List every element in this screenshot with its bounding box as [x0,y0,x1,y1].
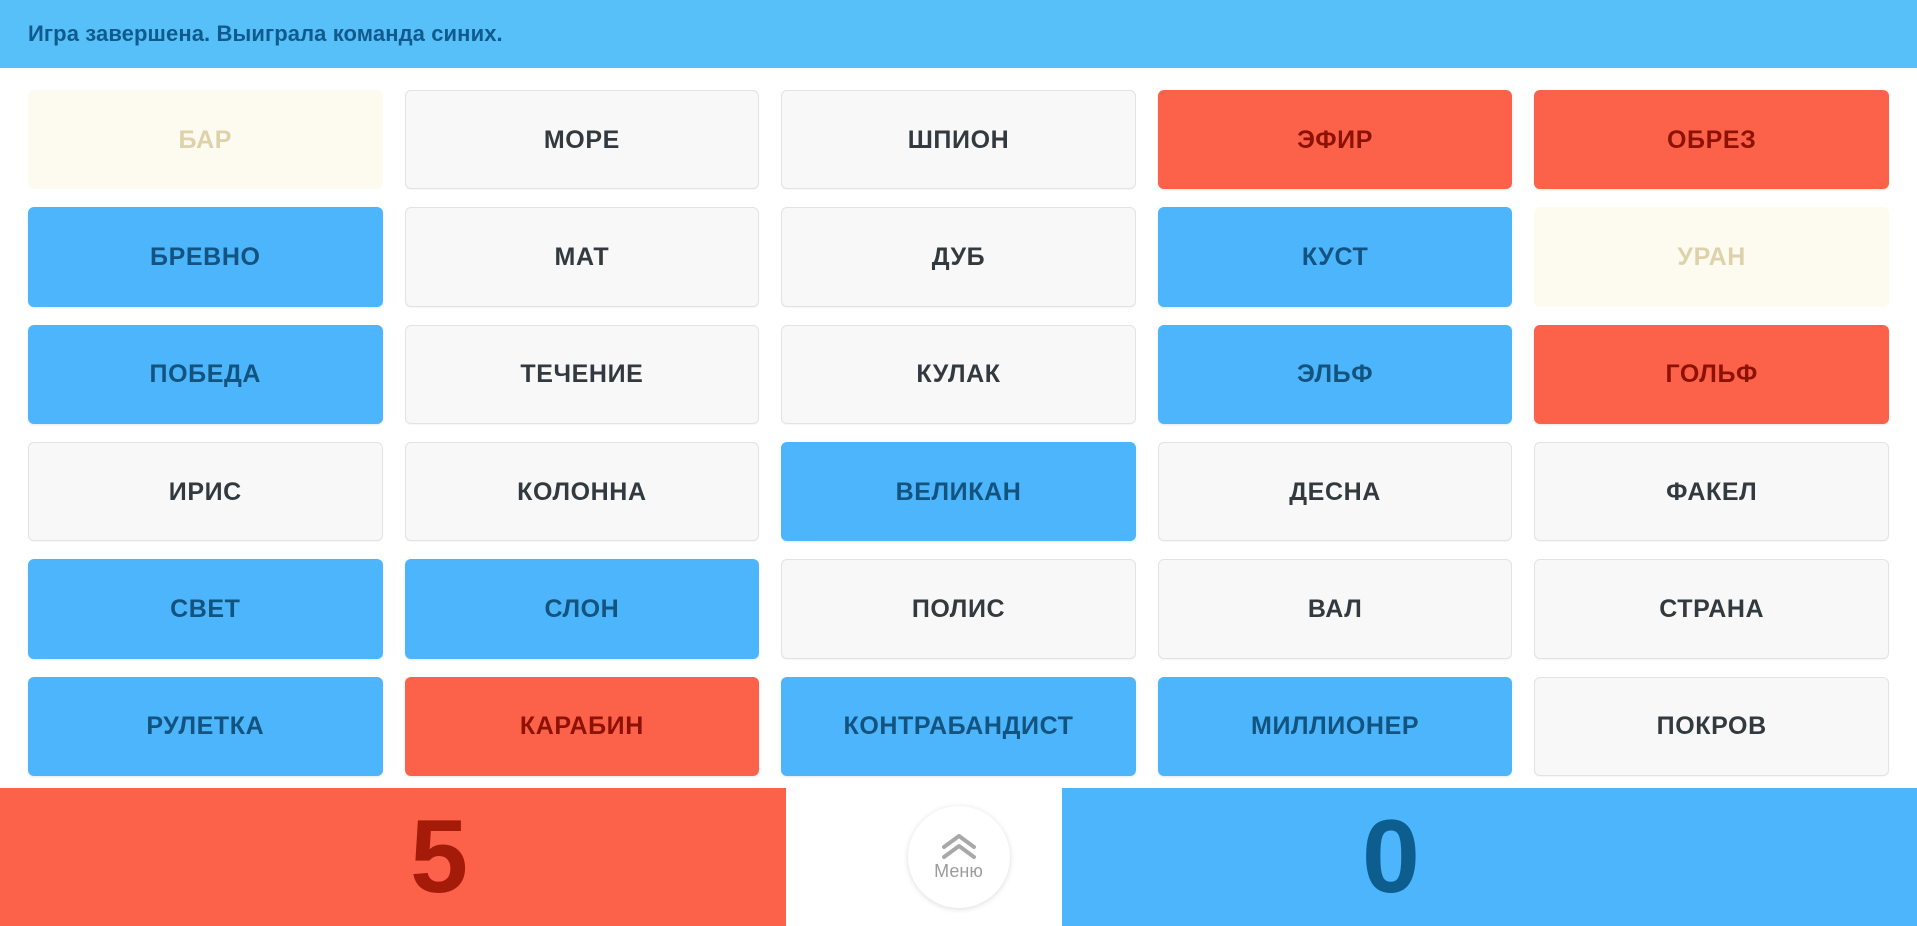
word-card[interactable]: УРАН [1534,207,1889,306]
word-card-label: БАР [179,127,233,153]
word-card-label: ИРИС [169,479,242,505]
blue-team-score-panel: 0 [1062,788,1917,926]
word-card-label: ОБРЕЗ [1667,127,1756,153]
word-card[interactable]: ГОЛЬФ [1534,325,1889,424]
word-card-label: РУЛЕТКА [146,713,264,739]
blue-team-score: 0 [1362,805,1420,909]
word-card[interactable]: МОРЕ [405,90,760,189]
word-card[interactable]: КУЛАК [781,325,1136,424]
word-card[interactable]: ЭФИР [1158,90,1513,189]
word-card-label: КАРАБИН [520,713,644,739]
red-team-score-panel: 5 [0,788,786,926]
word-card[interactable]: БРЕВНО [28,207,383,306]
word-card[interactable]: МИЛЛИОНЕР [1158,677,1513,776]
word-card-label: ВЕЛИКАН [896,479,1022,505]
word-card-label: ТЕЧЕНИЕ [520,361,643,387]
word-card[interactable]: ВЕЛИКАН [781,442,1136,541]
word-card-label: КУСТ [1302,244,1369,270]
word-card-label: МОРЕ [544,127,620,153]
word-card[interactable]: КОНТРАБАНДИСТ [781,677,1136,776]
word-card[interactable]: ТЕЧЕНИЕ [405,325,760,424]
word-card[interactable]: СТРАНА [1534,559,1889,658]
word-card[interactable]: МАТ [405,207,760,306]
codenames-app: Игра завершена. Выиграла команда синих. … [0,0,1917,926]
word-card[interactable]: РУЛЕТКА [28,677,383,776]
word-card-label: ФАКЕЛ [1666,479,1757,505]
word-card[interactable]: ПОЛИС [781,559,1136,658]
word-card-label: ПОБЕДА [150,361,262,387]
word-card-label: ЭЛЬФ [1297,361,1373,387]
word-card[interactable]: ШПИОН [781,90,1136,189]
word-card-label: МИЛЛИОНЕР [1251,713,1419,739]
word-card-grid: БАРМОРЕШПИОНЭФИРОБРЕЗБРЕВНОМАТДУБКУСТУРА… [0,68,1917,788]
word-card[interactable]: КУСТ [1158,207,1513,306]
game-status-message: Игра завершена. Выиграла команда синих. [28,23,503,45]
word-card[interactable]: ОБРЕЗ [1534,90,1889,189]
word-card-label: ВАЛ [1308,596,1363,622]
menu-button[interactable]: Меню [908,806,1010,908]
word-card-label: ПОЛИС [912,596,1005,622]
red-team-score: 5 [410,805,468,909]
word-card-label: ШПИОН [908,127,1010,153]
word-card-label: ДУБ [932,244,985,270]
word-card-label: ЭФИР [1297,127,1373,153]
word-card-label: МАТ [555,244,610,270]
menu-button-label: Меню [934,862,983,880]
word-card-label: ПОКРОВ [1657,713,1767,739]
word-card[interactable]: ДЕСНА [1158,442,1513,541]
word-card-label: ДЕСНА [1289,479,1381,505]
word-card[interactable]: СВЕТ [28,559,383,658]
word-card-label: СТРАНА [1659,596,1764,622]
score-footer: 5 0 Меню [0,788,1917,926]
word-card-label: КОНТРАБАНДИСТ [844,713,1074,739]
word-card[interactable]: БАР [28,90,383,189]
word-card-label: УРАН [1677,244,1746,270]
game-status-banner: Игра завершена. Выиграла команда синих. [0,0,1917,68]
word-card[interactable]: ПОКРОВ [1534,677,1889,776]
word-card[interactable]: СЛОН [405,559,760,658]
word-card[interactable]: ВАЛ [1158,559,1513,658]
word-card-label: БРЕВНО [150,244,260,270]
word-card[interactable]: КАРАБИН [405,677,760,776]
word-card[interactable]: ФАКЕЛ [1534,442,1889,541]
word-card-label: КОЛОННА [517,479,646,505]
word-card[interactable]: ЭЛЬФ [1158,325,1513,424]
word-card-label: ГОЛЬФ [1665,361,1758,387]
double-chevron-up-icon [939,834,979,860]
word-card-label: СВЕТ [170,596,240,622]
word-card[interactable]: ПОБЕДА [28,325,383,424]
word-card[interactable]: ДУБ [781,207,1136,306]
word-card[interactable]: КОЛОННА [405,442,760,541]
word-card-label: СЛОН [544,596,619,622]
word-card[interactable]: ИРИС [28,442,383,541]
word-card-label: КУЛАК [916,361,1000,387]
